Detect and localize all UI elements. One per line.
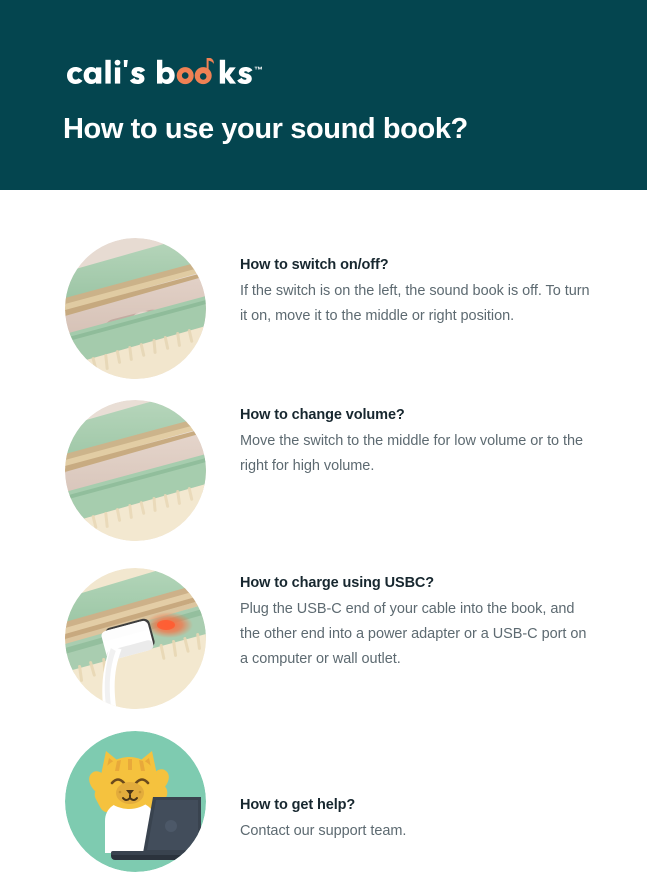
trademark-symbol: ™ (254, 66, 263, 75)
cat-head (100, 751, 158, 809)
instruction-section-charge-usbc: How to charge using USBC? Plug the USB-C… (0, 526, 647, 706)
section-body: If the switch is on the left, the sound … (240, 279, 595, 329)
sound-book-instructions-page: ™ How to use your sound book? (0, 0, 647, 879)
instruction-text-charge-usbc: How to charge using USBC? Plug the USB-C… (240, 574, 595, 672)
section-heading: How to charge using USBC? (240, 574, 595, 594)
brand-logo: ™ (63, 58, 263, 92)
section-heading: How to switch on/off? (240, 256, 595, 276)
cat-with-laptop-illustration (65, 731, 206, 872)
section-body: Contact our support team. (240, 819, 595, 844)
instruction-text-switch-on-off: How to switch on/off? If the switch is o… (240, 256, 595, 329)
section-body: Plug the USB-C end of your cable into th… (240, 597, 595, 672)
section-heading: How to change volume? (240, 406, 595, 426)
page-title: How to use your sound book? (63, 112, 468, 147)
instruction-section-change-volume: How to change volume? Move the switch to… (0, 358, 647, 526)
page-header: ™ How to use your sound book? (0, 0, 647, 190)
book-volume-switch-photo (65, 400, 206, 541)
section-body: Move the switch to the middle for low vo… (240, 429, 595, 479)
instruction-section-switch-on-off: How to switch on/off? If the switch is o… (0, 190, 647, 358)
brand-logo-wordmark (63, 58, 253, 92)
instruction-text-change-volume: How to change volume? Move the switch to… (240, 406, 595, 479)
instruction-section-get-help: How to get help? Contact our support tea… (0, 706, 647, 879)
usbc-charging-photo (65, 568, 206, 709)
instruction-text-get-help: How to get help? Contact our support tea… (240, 796, 595, 844)
section-heading: How to get help? (240, 796, 595, 816)
